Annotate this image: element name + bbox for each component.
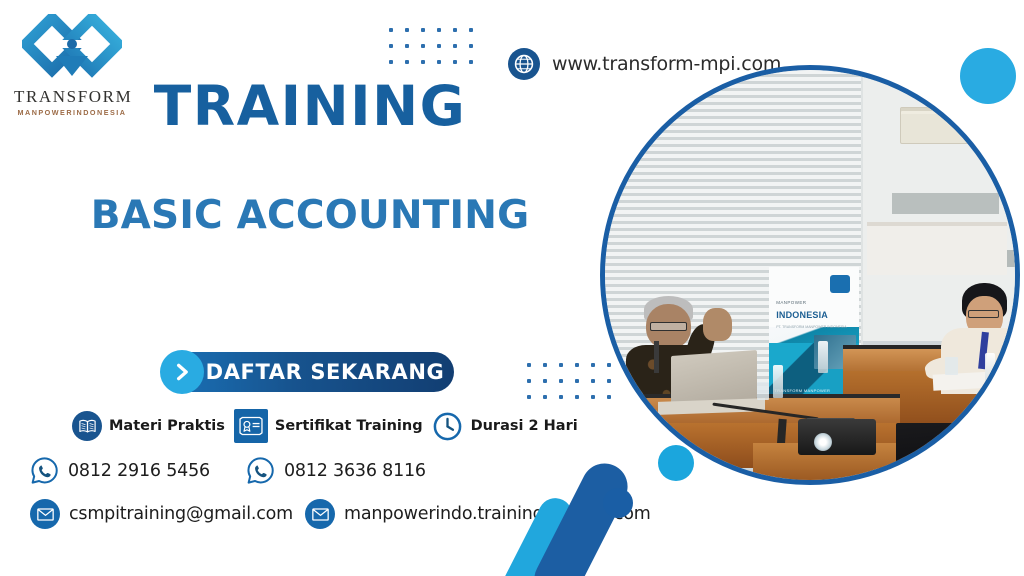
feature-item-materi: Materi Praktis [72,411,225,441]
whatsapp-icon [30,456,59,485]
banner-logo-icon [830,275,850,293]
participant-glasses [968,310,999,318]
phone-number-1: 0812 2916 5456 [68,461,210,481]
training-room-photo: MANPOWER INDONESIA PT. TRANSFORM MANPOWE… [600,65,1020,485]
envelope-icon [30,499,60,529]
decor-circle-cyan-top-right [960,48,1016,104]
register-button[interactable]: DAFTAR SEKARANG [162,352,454,392]
whatsapp-icon [246,456,275,485]
banner-line-3: PT. TRANSFORM MANPOWER INDONESIA [776,325,846,329]
dot-grid-top [389,28,473,64]
water-bottle-2 [818,341,828,374]
feature-label-materi: Materi Praktis [109,418,225,434]
certificate-icon [234,409,268,443]
register-button-label: DAFTAR SEKARANG [204,360,454,384]
laptop-foreground-keyboard [908,455,1006,476]
feature-label-sertifikat: Sertifikat Training [275,418,423,434]
phone-contacts-row: 0812 2916 5456 0812 3636 8116 [30,456,426,485]
book-icon [72,411,102,441]
phone-number-2: 0812 3636 8116 [284,461,426,481]
wall-panel [892,193,999,214]
phone-contact-1[interactable]: 0812 2916 5456 [30,456,210,485]
decor-circle-navy [603,488,633,518]
water-bottle-1 [773,365,783,398]
instructor-lanyard [654,341,659,374]
instructor-hand [703,308,732,341]
projector [798,419,876,456]
poster-canvas: TRANSFORM MANPOWERINDONESIA TRAINING BAS… [0,0,1024,576]
email-address-1: csmpitraining@gmail.com [69,504,293,524]
drinking-glass-1 [757,382,769,400]
phone-contact-2[interactable]: 0812 3636 8116 [246,456,426,485]
air-conditioner [900,107,994,144]
envelope-icon [305,499,335,529]
feature-item-durasi: Durasi 2 Hari [432,410,578,442]
credenza [867,226,1006,275]
water-bottle-3 [985,353,995,386]
chevron-right-icon [160,350,204,394]
feature-item-sertifikat: Sertifikat Training [234,409,423,443]
dot-grid-middle [527,363,611,399]
laptop-screen [671,350,757,405]
feature-label-durasi: Durasi 2 Hari [471,418,578,434]
banner-line-1: MANPOWER [776,300,806,305]
features-row: Materi Praktis Sertifikat Training [72,409,578,443]
globe-icon [508,48,540,80]
photo-scene: MANPOWER INDONESIA PT. TRANSFORM MANPOWE… [605,70,1015,480]
drinking-glass-2 [945,357,957,375]
instructor-glasses [650,322,687,331]
page-title-training: TRAINING [40,74,580,138]
email-contact-1[interactable]: csmpitraining@gmail.com [30,499,293,529]
clock-icon [432,410,464,442]
banner-line-2: INDONESIA [776,310,828,320]
page-title-topic: BASIC ACCOUNTING [40,193,580,238]
